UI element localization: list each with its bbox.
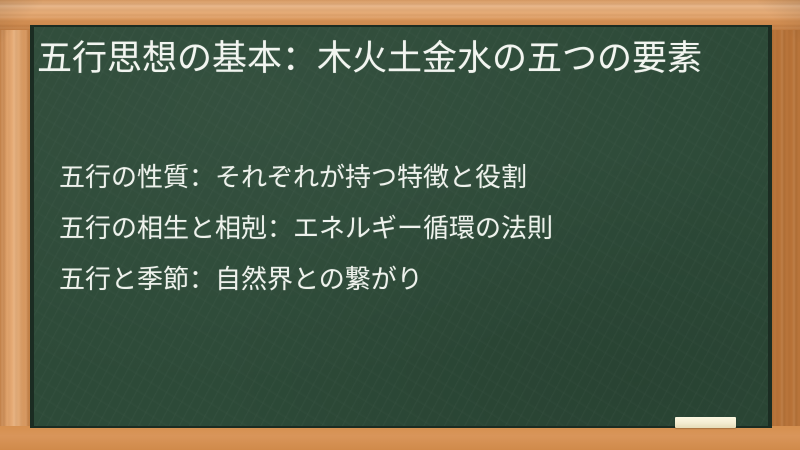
chalk-stick-icon <box>675 417 736 428</box>
bullet-item-3: 五行と季節：自然界との繋がり <box>59 254 749 305</box>
bullet-list: 五行の性質：それぞれが持つ特徴と役割 五行の相生と相剋：エネルギー循環の法則 五… <box>59 152 749 305</box>
bullet-item-2: 五行の相生と相剋：エネルギー循環の法則 <box>59 203 749 254</box>
bullet-item-1: 五行の性質：それぞれが持つ特徴と役割 <box>59 152 749 203</box>
wooden-frame-bottom-ledge <box>0 426 800 450</box>
slide-title: 五行思想の基本：木火土金水の五つの要素 <box>37 35 747 82</box>
chalkboard-slide: 五行思想の基本：木火土金水の五つの要素 五行の性質：それぞれが持つ特徴と役割 五… <box>0 0 800 450</box>
chalkboard-surface: 五行思想の基本：木火土金水の五つの要素 五行の性質：それぞれが持つ特徴と役割 五… <box>34 27 768 426</box>
